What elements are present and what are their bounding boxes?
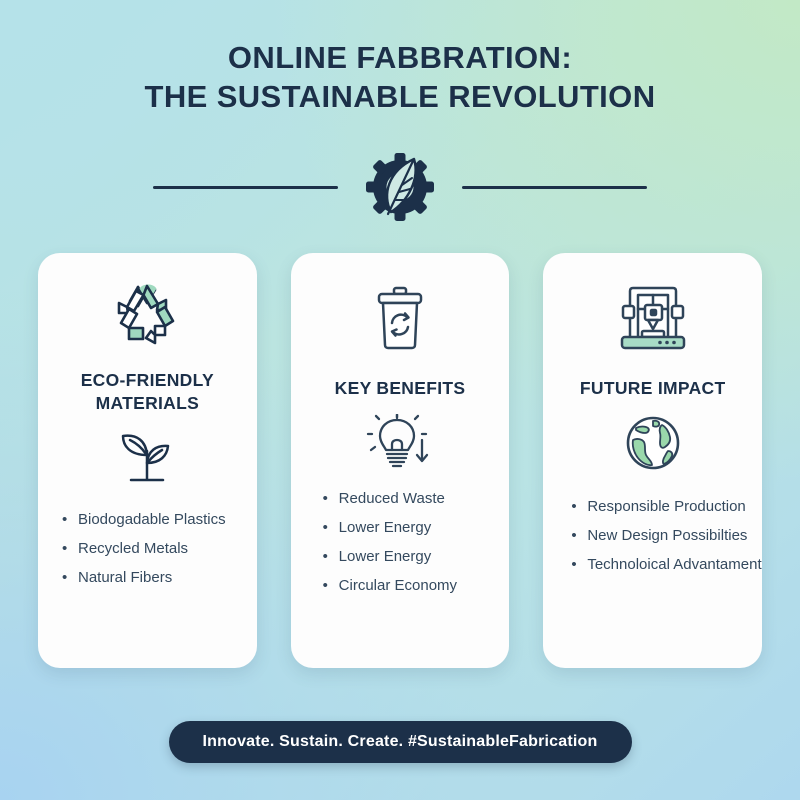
list-item: Lower Energy [323,513,457,542]
divider-rule-left [153,186,338,189]
divider-rule-right [462,186,647,189]
list-item: Natural Fibers [62,563,226,592]
footer-tagline: Innovate. Sustain. Create. #SustainableF… [169,721,632,763]
bullet-list: Reduced Waste Lower Energy Lower Energy … [291,484,457,600]
title-line-1: ONLINE FABBRATION: [0,38,800,77]
globe-icon [624,414,682,472]
recycle-icon [108,283,186,353]
list-item: Recycled Metals [62,534,226,563]
footer: Innovate. Sustain. Create. #SustainableF… [0,721,800,763]
3d-printer-icon [616,281,690,351]
list-item: Technoloical Advantament [571,550,761,579]
list-item: Lower Energy [323,542,457,571]
list-item: New Design Possibilties [571,521,761,550]
page-title: ONLINE FABBRATION: THE SUSTAINABLE REVOL… [0,38,800,116]
recycle-bin-icon [369,285,431,351]
card-future-impact[interactable]: FUTURE IMPACT Responsible Production New… [543,253,762,668]
bullet-list: Biodogadable Plastics Recycled Metals Na… [38,505,226,592]
card-key-benefits[interactable]: KEY BENEFITS Reduced Waste Lower Energy … [291,253,510,668]
card-eco-friendly-materials[interactable]: ECO-FRIENDLY MATERIALS Biodogadable Plas… [38,253,257,668]
card-title: ECO-FRIENDLY MATERIALS [38,369,257,415]
card-title: KEY BENEFITS [327,377,474,400]
list-item: Circular Economy [323,571,457,600]
list-item: Biodogadable Plastics [62,505,226,534]
card-title: FUTURE IMPACT [572,377,734,400]
list-item: Reduced Waste [323,484,457,513]
divider [0,152,800,222]
list-item: Responsible Production [571,492,761,521]
seedling-icon [112,429,182,487]
cards-row: ECO-FRIENDLY MATERIALS Biodogadable Plas… [38,253,762,668]
lightbulb-down-arrow-icon [366,414,434,472]
bullet-list: Responsible Production New Design Possib… [543,492,761,579]
gear-leaf-icon [352,152,448,222]
title-line-2: THE SUSTAINABLE REVOLUTION [0,77,800,116]
